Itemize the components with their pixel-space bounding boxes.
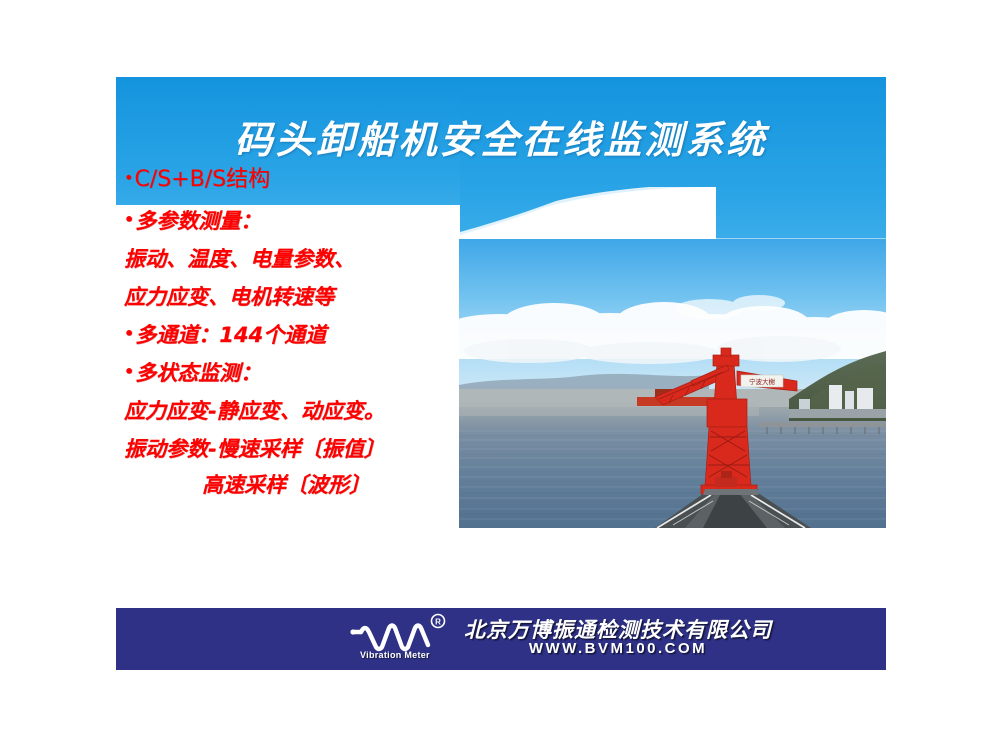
list-item-label: 振动、温度、电量参数、	[124, 247, 355, 271]
footer-bar: R Vibration Meter 北京万博振通检测技术有限公司 WWW.BVM…	[116, 608, 886, 670]
list-item-label: 应力应变、电机转速等	[124, 285, 334, 309]
list-item-label: 多状态监测：	[135, 361, 261, 385]
company-website: WWW.BVM100.COM	[464, 641, 772, 657]
list-item-label: 多通道：144个通道	[135, 323, 326, 347]
bullet-dot-icon: •	[124, 324, 134, 343]
company-identity: 北京万博振通检测技术有限公司 WWW.BVM100.COM	[464, 619, 772, 657]
logo-caption: Vibration Meter	[360, 650, 430, 660]
list-item: •多参数测量：	[124, 211, 484, 232]
list-item: 振动参数-慢速采样〔振值〕	[124, 439, 484, 460]
company-name-cn: 北京万博振通检测技术有限公司	[464, 619, 772, 641]
bullet-dot-icon: •	[124, 168, 133, 187]
list-item: 应力应变、电机转速等	[124, 287, 484, 308]
list-item-label: 振动参数-慢速采样〔振值〕	[124, 437, 385, 461]
vibration-meter-logo-icon: R Vibration Meter	[348, 612, 452, 664]
list-item: •多通道：144个通道	[124, 325, 484, 346]
svg-text:R: R	[435, 617, 441, 626]
list-item-label: 多参数测量：	[135, 209, 261, 233]
list-item: 应力应变-静应变、动应变。	[124, 401, 484, 422]
svg-text:宁波大榭: 宁波大榭	[749, 377, 776, 386]
list-item: •多状态监测：	[124, 363, 484, 384]
list-item-label: C/S+B/S结构	[134, 167, 270, 192]
slide-canvas: 码头卸船机安全在线监测系统 •C/S+B/S结构 •多参数测量： 振动、温度、电…	[116, 77, 886, 670]
bullet-dot-icon: •	[124, 210, 134, 229]
list-item: •C/S+B/S结构	[124, 169, 484, 191]
bullet-list: •C/S+B/S结构 •多参数测量： 振动、温度、电量参数、 应力应变、电机转速…	[124, 169, 484, 496]
list-item-label: 高速采样〔波形〕	[202, 473, 370, 497]
footer-brand-group: R Vibration Meter 北京万博振通检测技术有限公司 WWW.BVM…	[348, 612, 772, 664]
list-item-label: 应力应变-静应变、动应变。	[124, 399, 385, 423]
list-item: 高速采样〔波形〕	[124, 475, 484, 496]
list-item: 振动、温度、电量参数、	[124, 249, 484, 270]
ship-unloader-photo: 宁波大榭	[459, 239, 886, 528]
bullet-dot-icon: •	[124, 362, 134, 381]
page-title: 码头卸船机安全在线监测系统	[116, 109, 886, 164]
